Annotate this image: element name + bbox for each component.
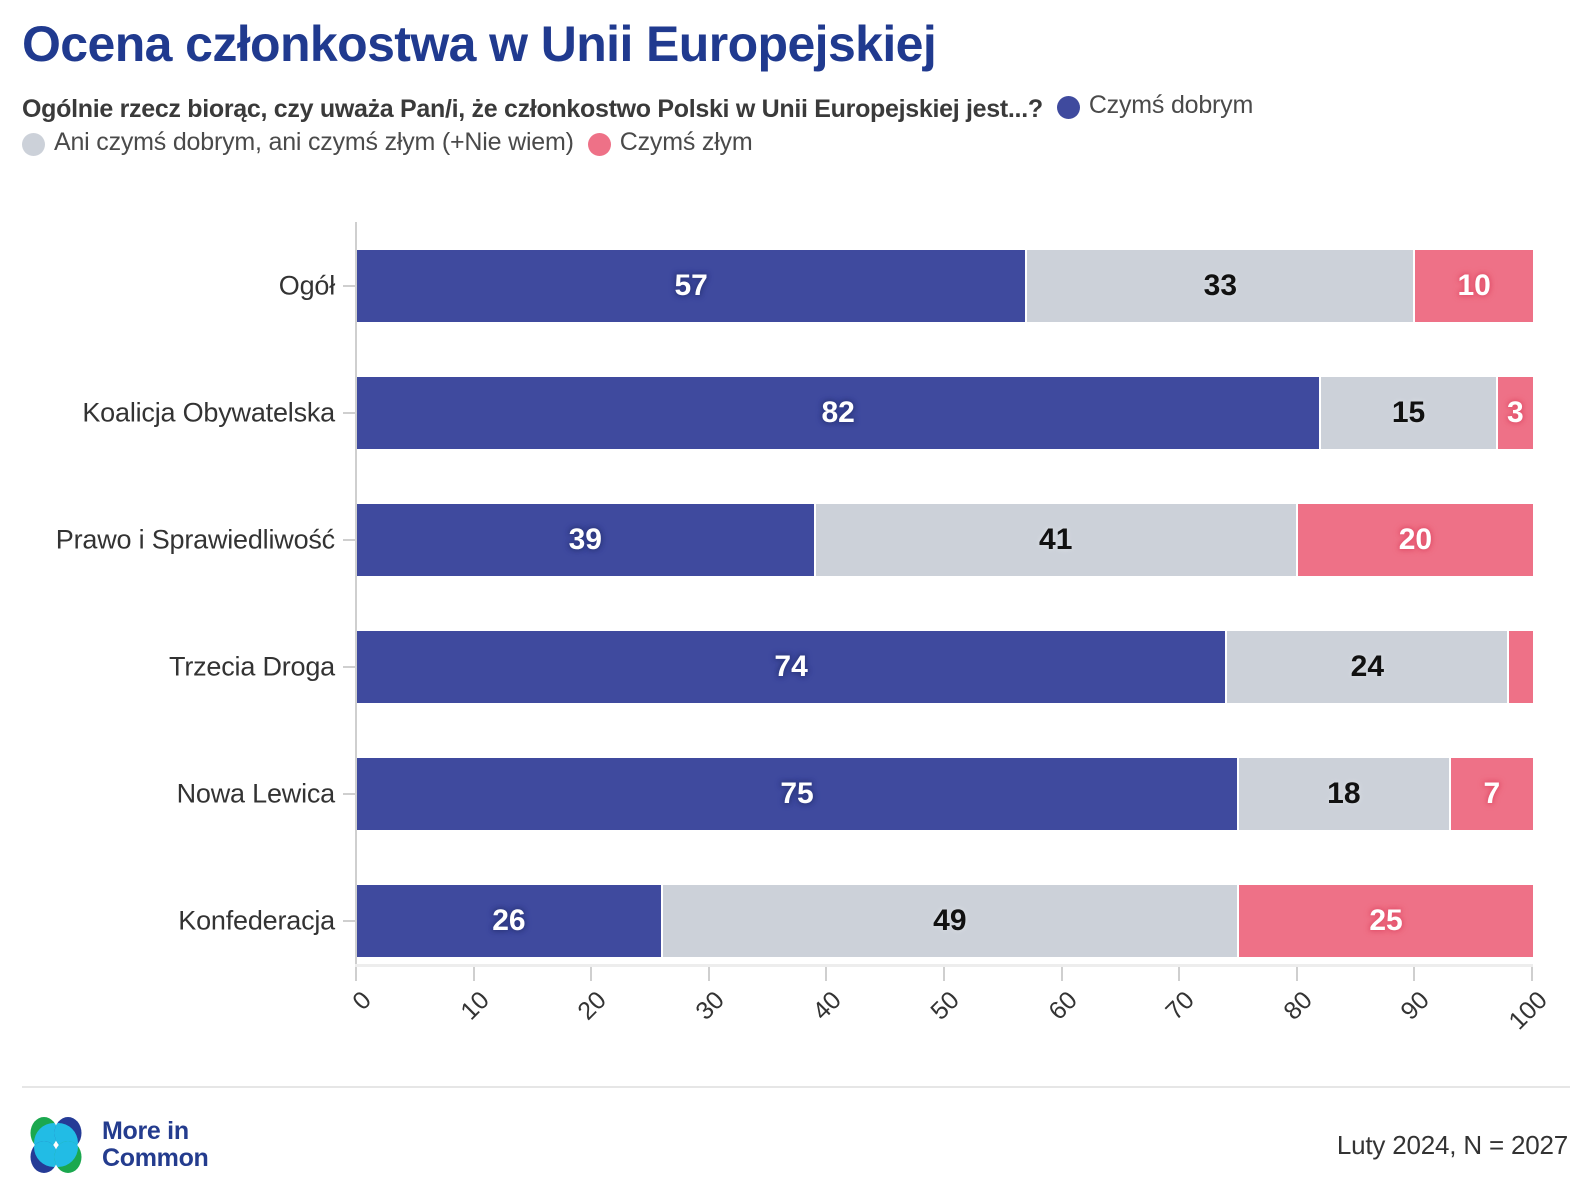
bar-value-label: 24 (1351, 652, 1384, 682)
bar-segment[interactable]: 20 (1298, 504, 1533, 576)
legend-dot-icon (588, 133, 611, 156)
x-axis-tick-mark (1178, 967, 1180, 981)
category-label: Trzecia Droga (169, 652, 335, 683)
chart-header: Ocena członkostwa w Unii Europejskiej Og… (0, 0, 1592, 157)
bar-segment[interactable] (1509, 631, 1533, 703)
bar-value-label: 49 (933, 906, 966, 936)
bar-segment[interactable]: 41 (816, 504, 1298, 576)
footer-divider (22, 1086, 1570, 1088)
y-axis-tick (343, 412, 357, 414)
bar-segment[interactable]: 75 (357, 758, 1239, 830)
bar-row: Ogół573310 (357, 250, 1533, 322)
subtitle-and-legend: Ogólnie rzecz biorąc, czy uważa Pan/i, ż… (22, 91, 1570, 157)
x-axis-tick-mark (1061, 967, 1063, 981)
bar-segment[interactable]: 15 (1321, 377, 1497, 449)
bar-value-label: 7 (1483, 779, 1500, 809)
bar-segment[interactable]: 26 (357, 885, 663, 957)
x-axis-tick-mark (590, 967, 592, 981)
bar-value-label: 41 (1039, 525, 1072, 555)
bar-row: Konfederacja264925 (357, 885, 1533, 957)
category-label: Prawo i Sprawiedliwość (56, 525, 335, 556)
bar-value-label: 3 (1507, 398, 1524, 428)
bar-value-label: 39 (569, 525, 602, 555)
bar-value-label: 82 (821, 398, 854, 428)
bar-segment[interactable]: 7 (1451, 758, 1533, 830)
bar-segment[interactable]: 39 (357, 504, 816, 576)
bar-row: Nowa Lewica75187 (357, 758, 1533, 830)
bar-segment[interactable]: 18 (1239, 758, 1451, 830)
bar-row: Trzecia Droga7424 (357, 631, 1533, 703)
bar-value-label: 18 (1327, 779, 1360, 809)
bar-value-label: 20 (1399, 525, 1432, 555)
bar-segment[interactable]: 10 (1415, 250, 1533, 322)
bar-value-label: 10 (1458, 271, 1491, 301)
y-axis-line (355, 222, 357, 964)
bar-segment[interactable]: 25 (1239, 885, 1533, 957)
x-axis-tick-mark (1531, 967, 1533, 981)
bar-value-label: 25 (1369, 906, 1402, 936)
bar-segment[interactable]: 3 (1498, 377, 1533, 449)
legend-dot-icon (1057, 96, 1080, 119)
bar-segment[interactable]: 82 (357, 377, 1321, 449)
legend-dot-icon (22, 133, 45, 156)
bar-row: Koalicja Obywatelska82153 (357, 377, 1533, 449)
legend-item-bad[interactable]: Czymś złym (588, 128, 753, 157)
bar-row: Prawo i Sprawiedliwość394120 (357, 504, 1533, 576)
source-note: Luty 2024, N = 2027 (1337, 1130, 1568, 1161)
legend-item-label: Czymś złym (620, 128, 753, 157)
x-axis-tick-mark (1296, 967, 1298, 981)
bar-value-label: 74 (774, 652, 807, 682)
x-axis-tick-mark (708, 967, 710, 981)
y-axis-tick (343, 539, 357, 541)
chart-plot-area: Ogół573310Koalicja Obywatelska82153Prawo… (0, 222, 1592, 1012)
brand-line-2: Common (102, 1145, 209, 1172)
chart-footer: More in Common Luty 2024, N = 2027 (0, 1092, 1592, 1198)
legend-item-label: Czymś dobrym (1089, 91, 1253, 120)
bar-value-label: 75 (780, 779, 813, 809)
category-label: Ogół (279, 271, 335, 302)
y-axis-tick (343, 666, 357, 668)
legend-item-label: Ani czymś dobrym, ani czymś złym (+Nie w… (54, 128, 574, 157)
x-axis-tick-mark (1413, 967, 1415, 981)
page-title: Ocena członkostwa w Unii Europejskiej (22, 18, 1570, 71)
y-axis-tick (343, 793, 357, 795)
bar-segment[interactable]: 74 (357, 631, 1227, 703)
bar-value-label: 15 (1392, 398, 1425, 428)
y-axis-tick (343, 920, 357, 922)
legend-item-good[interactable]: Czymś dobrym (1057, 91, 1253, 120)
more-in-common-logo-icon (24, 1113, 88, 1177)
brand-logo: More in Common (24, 1113, 209, 1177)
x-axis-tick-mark (943, 967, 945, 981)
brand-name: More in Common (102, 1118, 209, 1172)
bar-segment[interactable]: 57 (357, 250, 1027, 322)
bar-value-label: 26 (492, 906, 525, 936)
bar-segment[interactable]: 49 (663, 885, 1239, 957)
category-label: Koalicja Obywatelska (82, 398, 335, 429)
x-axis-tick-mark (825, 967, 827, 981)
bar-value-label: 33 (1204, 271, 1237, 301)
x-axis-tick-mark (355, 967, 357, 981)
category-label: Konfederacja (178, 906, 335, 937)
y-axis-tick (343, 285, 357, 287)
bar-value-label: 57 (674, 271, 707, 301)
legend-item-neutral[interactable]: Ani czymś dobrym, ani czymś złym (+Nie w… (22, 128, 574, 157)
bar-segment[interactable]: 33 (1027, 250, 1415, 322)
category-label: Nowa Lewica (177, 779, 335, 810)
bar-segment[interactable]: 24 (1227, 631, 1509, 703)
x-axis-tick-mark (473, 967, 475, 981)
chart-subtitle: Ogólnie rzecz biorąc, czy uważa Pan/i, ż… (22, 95, 1043, 124)
brand-line-1: More in (102, 1118, 209, 1145)
